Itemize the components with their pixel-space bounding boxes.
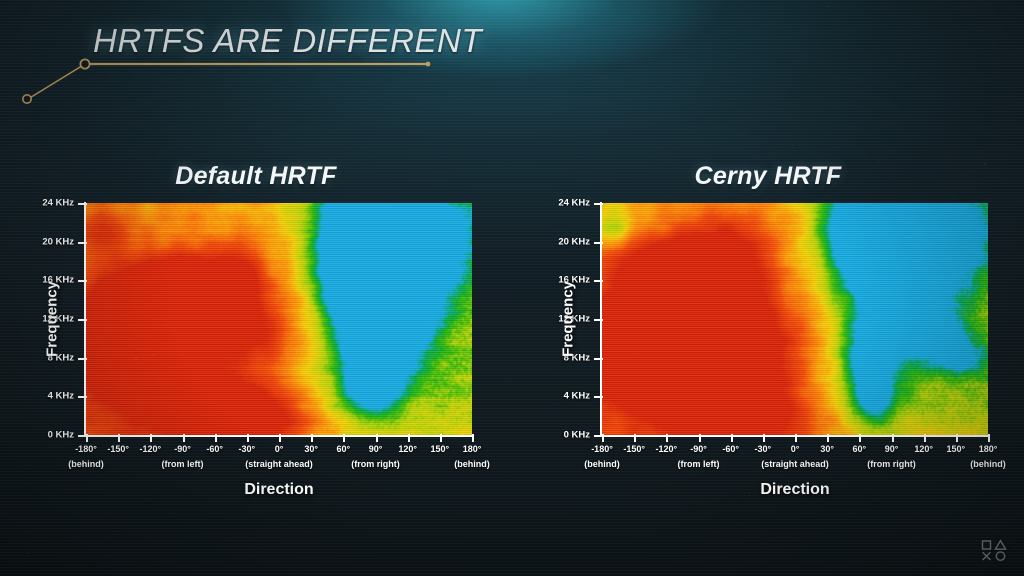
heatmap-cerny-hrtf [602, 203, 988, 435]
x-tick [859, 434, 861, 442]
x-tick [827, 434, 829, 442]
x-tick [343, 434, 345, 442]
y-tick [594, 358, 603, 360]
y-tick [78, 396, 87, 398]
x-tick [183, 434, 185, 442]
x-axis-title: Direction [760, 481, 829, 499]
x-sublabel: (from right) [867, 459, 916, 469]
x-tick [699, 434, 701, 442]
x-sublabel: (behind) [68, 459, 104, 469]
y-tick [78, 358, 87, 360]
x-tick-label: 150° [431, 444, 450, 454]
x-tick-label: -120° [656, 444, 678, 454]
x-tick-label: 30° [820, 444, 834, 454]
y-tick [594, 319, 603, 321]
x-tick-label: -90° [690, 444, 707, 454]
x-tick-label: 30° [304, 444, 318, 454]
x-tick-label: 90° [885, 444, 899, 454]
y-tick-label: 0 KHz [564, 430, 590, 441]
y-tick-label: 24 KHz [558, 198, 590, 209]
x-tick-label: -150° [623, 444, 645, 454]
x-tick-label: 60° [853, 444, 867, 454]
x-sublabel: (from right) [351, 459, 400, 469]
x-tick-label: -30° [755, 444, 772, 454]
x-tick [924, 434, 926, 442]
x-sublabel: (from left) [162, 459, 204, 469]
x-tick [602, 434, 604, 442]
playstation-shapes-logo [980, 538, 1010, 562]
y-tick-label: 24 KHz [42, 198, 74, 209]
chart-panel-default-hrtf: Default HRTF 0 KHz4 KHz8 KHz12 KHz16 KHz… [0, 150, 512, 510]
y-tick [594, 280, 603, 282]
x-tick-label: -150° [107, 444, 129, 454]
x-tick [666, 434, 668, 442]
y-tick [78, 280, 87, 282]
x-tick-label: -180° [591, 444, 613, 454]
x-sublabel: (behind) [454, 459, 490, 469]
y-axis-title: Frequency [559, 281, 576, 357]
x-tick [86, 434, 88, 442]
x-sublabel: (straight ahead) [761, 459, 829, 469]
y-tick-label: 20 KHz [42, 236, 74, 247]
x-tick [731, 434, 733, 442]
x-tick [956, 434, 958, 442]
x-tick [150, 434, 152, 442]
x-tick [279, 434, 281, 442]
x-sublabel: (behind) [970, 459, 1006, 469]
x-tick [376, 434, 378, 442]
x-tick-label: 120° [398, 444, 417, 454]
y-tick-label: 4 KHz [564, 391, 590, 402]
plot-area-cerny-hrtf: 0 KHz4 KHz8 KHz12 KHz16 KHz20 KHz24 KHz … [602, 203, 988, 435]
x-sublabel: (behind) [584, 459, 620, 469]
page-title: HRTFS ARE DIFFERENT [93, 22, 482, 60]
x-tick [215, 434, 217, 442]
x-tick [988, 434, 990, 442]
x-tick [472, 434, 474, 442]
x-sublabel: (from left) [678, 459, 720, 469]
x-tick-label: -120° [140, 444, 162, 454]
x-tick [408, 434, 410, 442]
y-tick [78, 203, 87, 205]
chart-panel-cerny-hrtf: Cerny HRTF 0 KHz4 KHz8 KHz12 KHz16 KHz20… [512, 150, 1024, 510]
y-tick [78, 319, 87, 321]
x-tick-label: -60° [206, 444, 223, 454]
x-tick [311, 434, 313, 442]
x-tick [118, 434, 120, 442]
y-tick [78, 242, 87, 244]
x-tick-label: -90° [174, 444, 191, 454]
slide: HRTFS ARE DIFFERENT Default HRTF 0 KHz4 … [0, 0, 1024, 576]
x-tick-label: 0° [275, 444, 284, 454]
y-axis-title: Frequency [43, 281, 60, 357]
y-tick-label: 20 KHz [558, 236, 590, 247]
x-tick [892, 434, 894, 442]
x-tick-label: -30° [239, 444, 256, 454]
x-tick [795, 434, 797, 442]
x-tick-label: 180° [463, 444, 482, 454]
y-tick [594, 396, 603, 398]
x-tick [634, 434, 636, 442]
y-tick [594, 203, 603, 205]
plot-area-default-hrtf: 0 KHz4 KHz8 KHz12 KHz16 KHz20 KHz24 KHz … [86, 203, 472, 435]
x-tick-label: 150° [947, 444, 966, 454]
chart-title-cerny-hrtf: Cerny HRTF [512, 162, 1024, 191]
y-tick-label: 0 KHz [48, 430, 74, 441]
x-tick-label: 60° [337, 444, 351, 454]
x-tick [763, 434, 765, 442]
x-tick-label: 0° [791, 444, 800, 454]
x-tick [440, 434, 442, 442]
x-tick-label: -60° [722, 444, 739, 454]
x-tick-label: -180° [75, 444, 97, 454]
x-tick-label: 180° [979, 444, 998, 454]
y-tick-label: 4 KHz [48, 391, 74, 402]
x-axis-title: Direction [244, 481, 313, 499]
x-tick-label: 90° [369, 444, 383, 454]
heatmap-default-hrtf [86, 203, 472, 435]
y-tick [594, 242, 603, 244]
accent-line-decoration [0, 0, 470, 130]
chart-title-default-hrtf: Default HRTF [0, 162, 512, 191]
x-sublabel: (straight ahead) [245, 459, 313, 469]
x-tick [247, 434, 249, 442]
x-tick-label: 120° [914, 444, 933, 454]
